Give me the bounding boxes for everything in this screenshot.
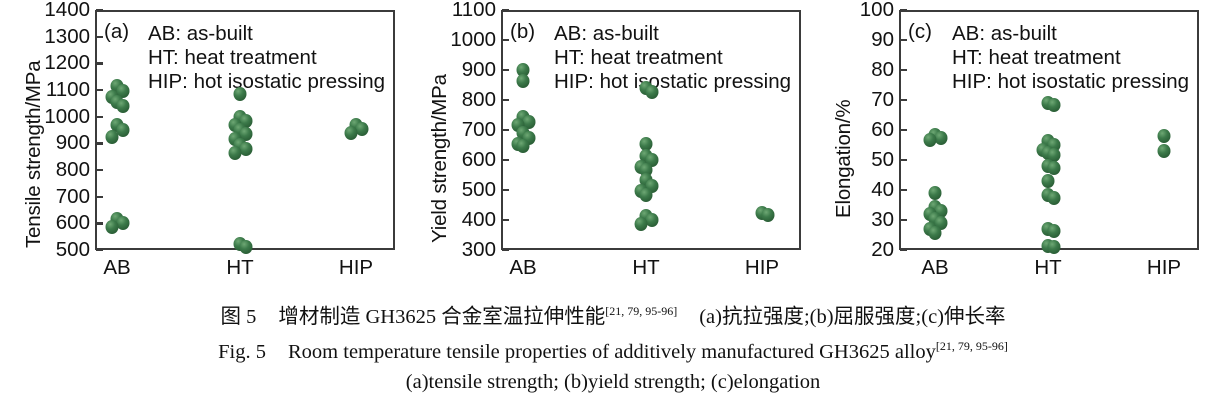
panel-label-c: (c) — [908, 22, 932, 43]
y-tick-mark-700 — [502, 129, 509, 131]
chart-panel-a: Tensile strength/MPa 5006007008009001000… — [0, 0, 410, 290]
caption-cn-prefix: 图 5 — [220, 306, 256, 328]
y-tick-mark-600 — [502, 159, 509, 161]
y-tick-mark-700 — [96, 196, 103, 198]
panel-label-a: (a) — [104, 22, 129, 43]
data-point — [923, 133, 936, 147]
y-tick-mark-80 — [900, 69, 907, 71]
data-point — [239, 240, 252, 254]
data-point — [929, 186, 942, 200]
y-tick-label-70: 70 — [871, 90, 894, 111]
y-tick-mark-1300 — [96, 36, 103, 38]
legend-b: AB: as-built HT: heat treatment HIP: hot… — [554, 22, 791, 93]
legend-line-3-a: HIP: hot isostatic pressing — [148, 70, 385, 94]
y-tick-label-20: 20 — [871, 240, 894, 261]
y-axis-tick-labels-a: 50060070080090010001100120013001400 — [28, 0, 90, 260]
y-tick-mark-900 — [502, 69, 509, 71]
y-tick-mark-800 — [502, 99, 509, 101]
y-tick-mark-600 — [96, 222, 103, 224]
legend-line-2-c: HT: heat treatment — [952, 46, 1189, 70]
data-point — [645, 85, 658, 99]
y-tick-label-1400: 1400 — [44, 0, 90, 20]
legend-line-2-a: HT: heat treatment — [148, 46, 385, 70]
data-point — [1047, 161, 1060, 175]
y-tick-mark-20 — [900, 249, 907, 251]
caption-en-sub: (a)tensile strength; (b)yield strength; … — [406, 371, 820, 393]
y-tick-label-500: 500 — [462, 180, 496, 201]
y-tick-label-900: 900 — [462, 60, 496, 81]
y-tick-mark-300 — [502, 249, 509, 251]
y-tick-mark-400 — [502, 219, 509, 221]
caption-en-prefix: Fig. 5 — [218, 341, 266, 363]
y-tick-mark-1000 — [96, 116, 103, 118]
y-tick-label-80: 80 — [871, 60, 894, 81]
y-tick-mark-800 — [96, 169, 103, 171]
y-tick-label-40: 40 — [871, 180, 894, 201]
y-axis-tick-labels-c: 2030405060708090100 — [832, 0, 894, 260]
legend-line-1-c: AB: as-built — [952, 22, 1189, 46]
y-tick-label-1300: 1300 — [44, 26, 90, 47]
y-tick-mark-900 — [96, 142, 103, 144]
data-point — [234, 87, 247, 101]
y-tick-label-400: 400 — [462, 210, 496, 231]
data-point — [355, 122, 368, 136]
legend-c: AB: as-built HT: heat treatment HIP: hot… — [952, 22, 1189, 93]
legend-line-1-b: AB: as-built — [554, 22, 791, 46]
y-tick-label-600: 600 — [462, 150, 496, 171]
y-tick-mark-70 — [900, 99, 907, 101]
data-point — [934, 131, 947, 145]
data-point — [1047, 191, 1060, 205]
y-tick-mark-90 — [900, 39, 907, 41]
y-tick-label-1100: 1100 — [46, 80, 90, 101]
legend-line-3-c: HIP: hot isostatic pressing — [952, 70, 1189, 94]
data-point — [634, 217, 647, 231]
data-point — [517, 74, 530, 88]
y-tick-mark-1000 — [502, 39, 509, 41]
data-point — [1158, 129, 1171, 143]
y-tick-label-700: 700 — [462, 120, 496, 141]
data-point — [116, 99, 129, 113]
data-point — [1042, 174, 1055, 188]
caption-en-main: Room temperature tensile properties of a… — [288, 341, 936, 363]
y-tick-label-800: 800 — [462, 90, 496, 111]
data-point — [1047, 240, 1060, 254]
y-tick-label-500: 500 — [56, 240, 90, 261]
data-point — [1047, 98, 1060, 112]
x-tick-label-hip: HIP — [745, 258, 779, 279]
x-tick-label-ab: AB — [921, 258, 948, 279]
data-point — [929, 226, 942, 240]
y-tick-label-90: 90 — [871, 30, 894, 51]
data-point — [517, 139, 530, 153]
y-tick-label-100: 100 — [860, 0, 894, 20]
caption-english-sub: (a)tensile strength; (b)yield strength; … — [0, 371, 1226, 394]
y-tick-mark-1200 — [96, 62, 103, 64]
panel-label-b: (b) — [510, 22, 535, 43]
y-tick-mark-500 — [502, 189, 509, 191]
y-tick-label-600: 600 — [56, 213, 90, 234]
y-tick-label-60: 60 — [871, 120, 894, 141]
caption-en-refs: [21, 79, 95-96] — [936, 339, 1008, 353]
legend-a: AB: as-built HT: heat treatment HIP: hot… — [148, 22, 385, 93]
legend-line-2-b: HT: heat treatment — [554, 46, 791, 70]
data-point — [1158, 144, 1171, 158]
y-tick-label-30: 30 — [871, 210, 894, 231]
caption-cn-refs: [21, 79, 95-96] — [605, 304, 677, 318]
data-point — [105, 130, 118, 144]
x-tick-label-ab: AB — [103, 258, 130, 279]
data-point — [1047, 224, 1060, 238]
y-tick-mark-1400 — [96, 9, 103, 11]
data-point — [228, 146, 241, 160]
y-tick-label-50: 50 — [871, 150, 894, 171]
y-tick-label-1100: 1100 — [452, 0, 496, 20]
caption-cn-sub: (a)抗拉强度;(b)屈服强度;(c)伸长率 — [699, 306, 1005, 328]
x-tick-label-hip: HIP — [339, 258, 373, 279]
caption-cn-main: 增材制造 GH3625 合金室温拉伸性能 — [278, 306, 605, 328]
data-point — [105, 220, 118, 234]
caption-chinese: 图 5增材制造 GH3625 合金室温拉伸性能[21, 79, 95-96](a… — [0, 299, 1226, 329]
y-tick-mark-60 — [900, 129, 907, 131]
y-tick-label-1000: 1000 — [44, 106, 90, 127]
legend-line-1-a: AB: as-built — [148, 22, 385, 46]
y-tick-mark-40 — [900, 189, 907, 191]
data-point — [640, 188, 653, 202]
y-tick-label-700: 700 — [56, 186, 90, 207]
y-tick-label-1200: 1200 — [44, 53, 90, 74]
y-tick-label-300: 300 — [462, 240, 496, 261]
x-tick-label-ht: HT — [226, 258, 253, 279]
x-tick-label-hip: HIP — [1147, 258, 1181, 279]
x-tick-label-ab: AB — [509, 258, 536, 279]
y-tick-mark-1100 — [96, 89, 103, 91]
y-tick-mark-30 — [900, 219, 907, 221]
data-point — [344, 126, 357, 140]
y-tick-label-1000: 1000 — [450, 30, 496, 51]
y-tick-mark-1100 — [502, 9, 509, 11]
y-tick-mark-100 — [900, 9, 907, 11]
chart-panel-c: Elongation/% 2030405060708090100 (c) AB:… — [814, 0, 1226, 290]
data-point — [761, 208, 774, 222]
y-tick-label-900: 900 — [56, 133, 90, 154]
y-tick-label-800: 800 — [56, 160, 90, 181]
x-tick-label-ht: HT — [1034, 258, 1061, 279]
legend-line-3-b: HIP: hot isostatic pressing — [554, 70, 791, 94]
figure-container: Tensile strength/MPa 5006007008009001000… — [0, 0, 1226, 417]
chart-panel-b: Yield strength/MPa 300400500600700800900… — [410, 0, 814, 290]
caption-english: Fig. 5Room temperature tensile propertie… — [0, 339, 1226, 364]
y-tick-mark-500 — [96, 249, 103, 251]
y-tick-mark-50 — [900, 159, 907, 161]
x-tick-label-ht: HT — [632, 258, 659, 279]
y-axis-tick-labels-b: 30040050060070080090010001100 — [434, 0, 496, 260]
